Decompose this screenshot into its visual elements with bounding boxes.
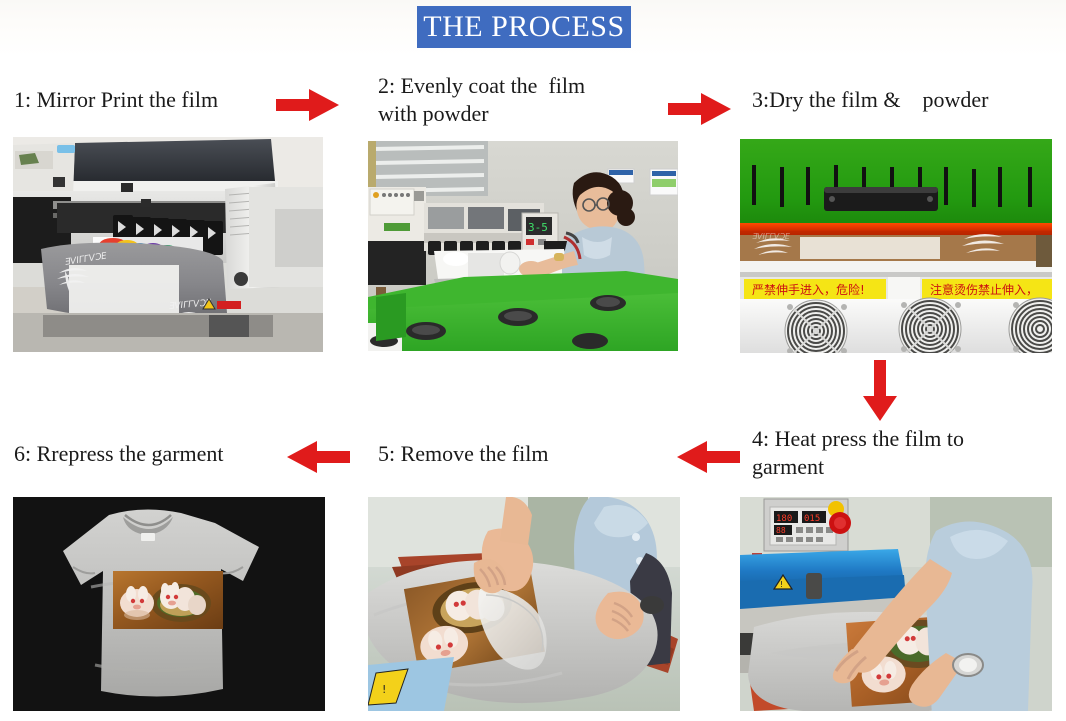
step-1-image: ƎVIГГVƆE ƎVIГГVƆE: [13, 137, 323, 352]
arrow-right-step1-step2: [276, 88, 340, 122]
oven-warning-right-text: 注意烫伤禁止伸入，: [930, 282, 1038, 297]
arrow-left-step4-step5: [676, 440, 740, 474]
svg-text:ƎVIГГVƆE: ƎVIГГVƆE: [752, 232, 791, 241]
step-6-image: [13, 497, 325, 711]
step-4-image: 180 015 88: [740, 497, 1052, 711]
step-6-caption: 6: Rrepress the garment: [14, 440, 284, 468]
svg-text:3-5: 3-5: [528, 221, 548, 234]
svg-text:!: !: [382, 683, 386, 696]
oven-warning-left-text: 严禁伸手进入，危险!: [752, 282, 865, 297]
svg-text:88: 88: [776, 526, 786, 535]
step-2-caption: 2: Evenly coat the film with powder: [378, 72, 648, 127]
step-3-caption: 3:Dry the film & powder: [752, 86, 1052, 114]
step-2-image: 3-5: [368, 141, 678, 351]
step-3-image: ƎVIГГVƆE 严禁伸手进入，危险! 注意烫伤禁止伸入，: [740, 139, 1052, 353]
step-5-image: !: [368, 497, 680, 711]
arrow-down-step3-step4: [862, 360, 898, 422]
page-title: THE PROCESS: [423, 12, 624, 42]
page-title-banner: THE PROCESS: [417, 6, 631, 48]
step-5-caption: 5: Remove the film: [378, 440, 628, 468]
svg-text:180: 180: [776, 514, 792, 524]
arrow-right-step2-step3: [668, 92, 732, 126]
svg-text:015: 015: [804, 514, 820, 524]
arrow-left-step5-step6: [286, 440, 350, 474]
step-4-caption: 4: Heat press the film to garment: [752, 425, 1042, 480]
svg-text:!: !: [780, 580, 783, 589]
step-1-caption: 1: Mirror Print the film: [14, 86, 274, 114]
